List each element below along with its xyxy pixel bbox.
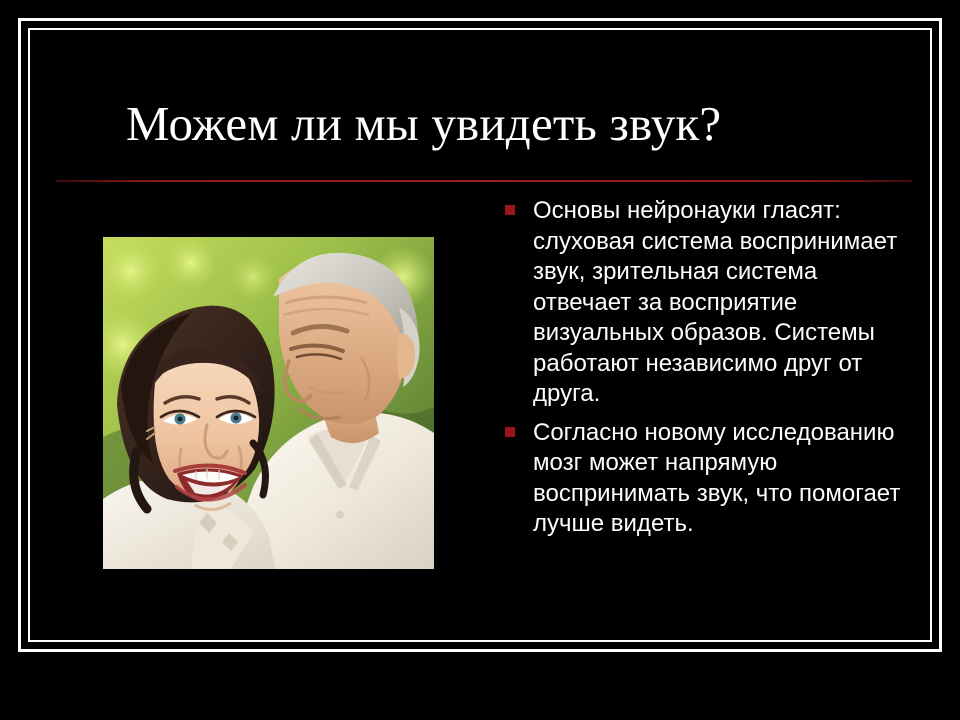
bullet-text: Согласно новому исследованию мозг может … bbox=[533, 419, 900, 538]
list-item: Основы нейронауки гласят: слуховая систе… bbox=[500, 196, 912, 410]
presentation-slide: Можем ли мы увидеть звук? bbox=[0, 0, 960, 720]
list-item: Согласно новому исследованию мозг может … bbox=[500, 418, 912, 540]
bullet-text: Основы нейронауки гласят: слуховая систе… bbox=[533, 197, 897, 407]
square-bullet-icon bbox=[505, 427, 515, 437]
elderly-couple-photo bbox=[103, 237, 434, 569]
bullet-list: Основы нейронауки гласят: слуховая систе… bbox=[500, 196, 912, 548]
slide-title: Можем ли мы увидеть звук? bbox=[126, 94, 886, 154]
title-divider bbox=[56, 180, 912, 182]
square-bullet-icon bbox=[505, 205, 515, 215]
